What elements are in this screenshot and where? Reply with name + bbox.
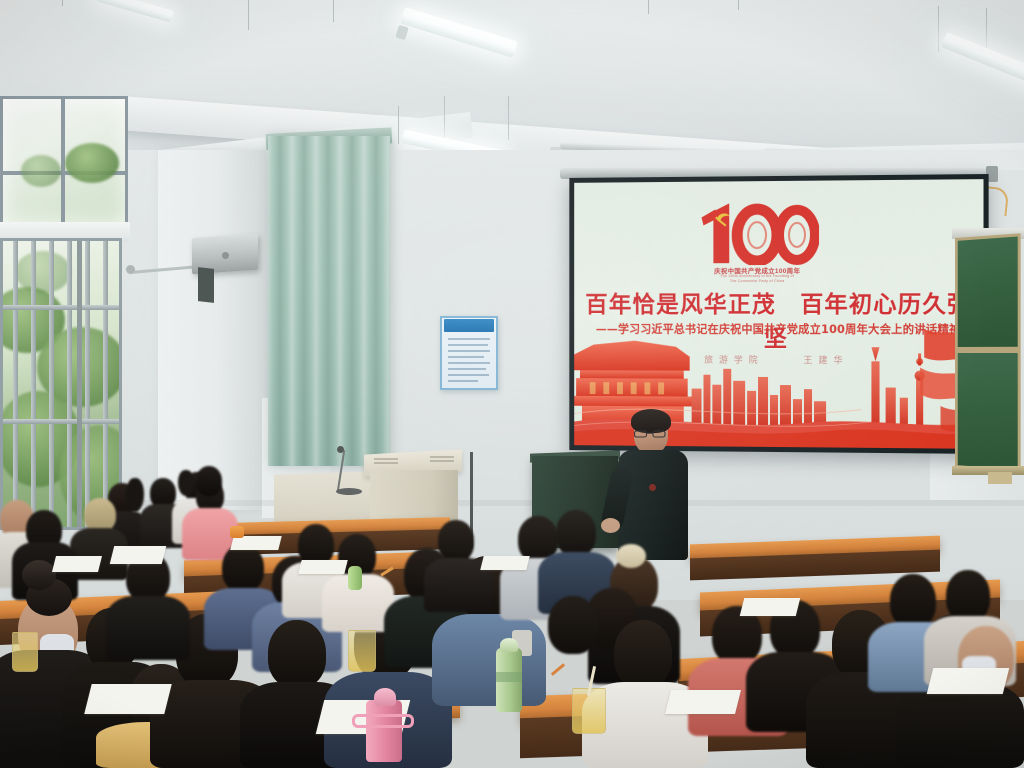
light-wire [444, 96, 445, 138]
speaker-anchor [126, 265, 135, 274]
window-bar [85, 241, 90, 527]
poster-text-line [448, 356, 484, 358]
lectern-vent-slot [374, 458, 398, 460]
blackboard-panel-lower [955, 350, 1021, 473]
lapel-badge-icon [649, 484, 656, 491]
lower-window-with-bars [0, 238, 122, 530]
notebook-page [52, 556, 102, 572]
poster-text-line [448, 338, 490, 340]
projection-screen: 庆祝中国共产党成立100周年 The 100th Anniversary of … [569, 174, 988, 454]
classroom-photo: 庆祝中国共产党成立100周年 The 100th Anniversary of … [0, 0, 1024, 768]
light-wire [333, 0, 334, 22]
light-wire [648, 0, 649, 14]
foliage [15, 251, 71, 293]
window-bar [31, 241, 36, 527]
poster-header-bar [444, 319, 494, 332]
notebook-page [927, 668, 1009, 694]
light-wire [508, 96, 509, 140]
window-bar [67, 241, 72, 527]
wall-pillar [158, 150, 266, 510]
window-bar [103, 241, 108, 527]
poster-text-line [448, 362, 490, 364]
notebook-page [740, 598, 800, 616]
notebook-page [110, 546, 166, 564]
window-bar-horizontal [3, 419, 119, 424]
lectern-vent-slot [430, 460, 454, 462]
lectern-vent-slot [374, 462, 398, 464]
light-wire [62, 0, 63, 6]
window-bar [49, 241, 54, 527]
speaker-driver [222, 252, 229, 259]
window-bar [13, 241, 18, 527]
yellow-drink-cup [348, 630, 376, 672]
window-bar-horizontal [3, 305, 119, 310]
pen [551, 663, 565, 676]
notebook-page [298, 560, 347, 574]
blackboard [955, 233, 1021, 473]
yellow-drink-cup [12, 632, 38, 672]
notebook-page [665, 690, 741, 714]
poster-text-line [448, 344, 488, 346]
notebook-page [230, 536, 281, 550]
window-frame-post [77, 241, 82, 527]
thermos-strap [352, 714, 414, 728]
chalk-tray-block [988, 472, 1012, 484]
microphone-icon [337, 446, 344, 453]
poster-text-line [448, 380, 478, 382]
light-wire [398, 106, 399, 144]
notebook-page [480, 556, 529, 570]
slide-surface: 庆祝中国共产党成立100周年 The 100th Anniversary of … [574, 179, 983, 449]
lectern-vent-slot [430, 456, 454, 458]
light-wire [248, 0, 249, 30]
glasses-icon [634, 430, 666, 438]
light-wire [986, 8, 987, 52]
poster-text-line [448, 368, 486, 370]
foliage [65, 143, 119, 183]
light-wire [938, 6, 939, 52]
window-curtain [268, 136, 390, 466]
light-wire [738, 0, 739, 10]
blackboard-panel-upper [955, 233, 1021, 350]
lecturer-hand [601, 518, 620, 533]
logo-caption-english: The 100th Anniversary of the Founding of… [672, 274, 843, 285]
cpc-100-anniversary-logo-icon [696, 197, 819, 266]
bottle-band [496, 672, 522, 682]
poster-text-line [448, 374, 489, 376]
speaker-bracket [198, 267, 214, 303]
notebook-page [84, 684, 171, 714]
poster-text-line [448, 350, 490, 352]
foliage [21, 155, 61, 187]
microphone-base [336, 488, 362, 495]
upper-window [0, 96, 128, 226]
desk-item-orange [230, 526, 244, 538]
